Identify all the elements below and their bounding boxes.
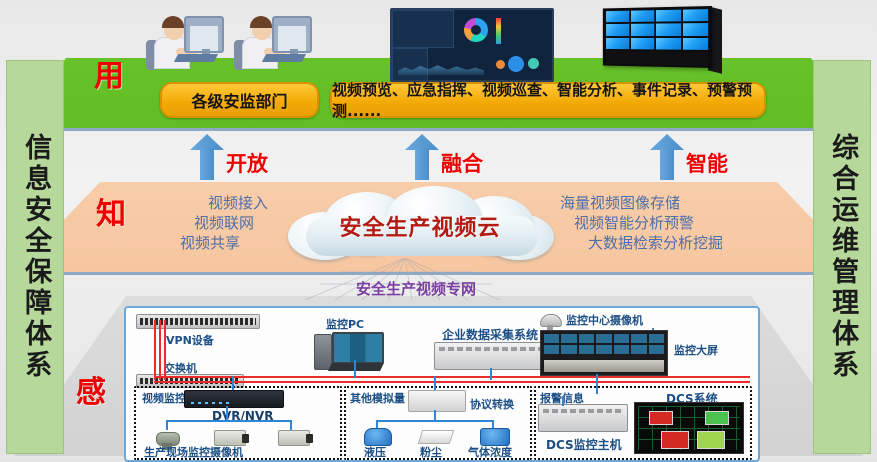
box-dept-label: 各级安监部门 xyxy=(191,88,287,112)
pillar-left-security: 信息安全保障体系 xyxy=(6,60,64,454)
label-big-screen: 监控大屏 xyxy=(674,342,718,358)
arrow-shaft-shape xyxy=(660,148,674,180)
video-wall-body xyxy=(603,6,712,68)
pillar-left-label: 信息安全保障体系 xyxy=(21,133,49,381)
dcs-host-icon xyxy=(538,404,628,432)
blue-link-line xyxy=(290,420,292,430)
bubble-shape xyxy=(528,58,539,69)
video-wall-base-shape xyxy=(606,51,708,66)
red-link-line xyxy=(159,320,161,380)
server-slots-shape xyxy=(439,347,547,351)
pc-tower-icon xyxy=(314,334,332,370)
arrow-up-fusion-icon xyxy=(405,134,439,180)
arrow-up-open-icon xyxy=(190,134,224,180)
blue-link-line xyxy=(434,410,436,422)
operator-workstation-icon xyxy=(146,12,224,72)
know-left-item: 视频联网 xyxy=(128,214,268,234)
blue-link-line xyxy=(232,376,234,390)
dust-sensor-icon xyxy=(418,430,455,444)
label-vpn-device: VPN设备 xyxy=(166,332,214,348)
control-room-screen-grid xyxy=(544,334,664,354)
layer-label-sense: 感 xyxy=(76,378,106,408)
protocol-converter-icon xyxy=(408,390,466,412)
analytics-dashboard-illustration xyxy=(390,8,554,82)
blue-link-line xyxy=(354,360,356,378)
arrow-shaft-shape xyxy=(200,148,214,180)
know-right-item: 视频智能分析预警 xyxy=(560,214,750,234)
label-video-monitoring: 视频监控 xyxy=(142,390,186,406)
video-wall-illustration xyxy=(588,6,728,76)
box-application-functions[interactable]: 视频预览、应急指挥、视频巡查、智能分析、事件记录、预警预测...... xyxy=(330,82,766,118)
know-left-capabilities: 视频接入 视频联网 视频共享 xyxy=(128,194,268,253)
blue-link-line xyxy=(490,368,492,380)
know-left-item: 视频共享 xyxy=(128,234,268,254)
dcs-scada-photo xyxy=(634,402,744,454)
dashboard-gauge-panel xyxy=(392,48,428,82)
blue-link-line xyxy=(166,420,292,422)
blue-link-line xyxy=(434,376,436,390)
diagram-canvas: 信息安全保障体系 综合运维管理体系 用 知 感 xyxy=(0,0,877,461)
pc-screen-icon xyxy=(332,332,384,364)
box-safety-supervision-departments[interactable]: 各级安监部门 xyxy=(160,82,319,118)
control-room-desk-shape xyxy=(544,360,664,372)
private-network-label: 安全生产视频专网 xyxy=(356,278,476,299)
operators-illustration xyxy=(146,8,316,72)
label-dcs-host: DCS监控主机 xyxy=(546,436,622,453)
box-apps-label: 视频预览、应急指挥、视频巡查、智能分析、事件记录、预警预测...... xyxy=(332,79,764,121)
dcs-unit-shape xyxy=(649,411,673,425)
know-right-capabilities: 海量视频图像存储 视频智能分析预警 大数据检索分析挖掘 xyxy=(560,194,750,253)
blue-link-line xyxy=(226,406,228,422)
label-sensor-gas: 气体浓度 xyxy=(468,444,512,460)
arrow-label-open: 开放 xyxy=(226,148,268,178)
label-monitor-pc: 监控PC xyxy=(326,316,364,332)
camera-lens-shape xyxy=(306,434,313,443)
red-link-line xyxy=(154,320,156,380)
monitor-icon xyxy=(272,16,312,53)
pillar-right-operations: 综合运维管理体系 xyxy=(813,60,871,454)
pillar-right-label: 综合运维管理体系 xyxy=(828,133,856,381)
dcs-unit-shape xyxy=(705,411,729,425)
red-bus-line xyxy=(154,381,750,383)
nvr-led-shape xyxy=(191,402,231,404)
label-data-collection-system: 企业数据采集系统 xyxy=(442,326,538,343)
box-camera-icon xyxy=(278,430,310,446)
blue-link-line xyxy=(562,396,564,406)
label-sensor-hydraulic: 液压 xyxy=(364,444,386,460)
bubble-shape xyxy=(496,60,505,69)
label-protocol-conversion: 协议转换 xyxy=(470,396,514,412)
arrow-label-smart: 智能 xyxy=(686,148,728,178)
person-hair-shape xyxy=(250,16,272,28)
person-hair-shape xyxy=(162,16,184,28)
server-slots-shape xyxy=(543,409,623,413)
bubble-shape xyxy=(508,56,524,72)
operator-workstation-icon xyxy=(234,12,312,72)
label-site-cameras: 生产现场监控摄像机 xyxy=(144,444,243,460)
red-bus-line xyxy=(154,376,750,378)
cloud-label-video-cloud: 安全生产视频云 xyxy=(300,210,540,242)
control-room-photo xyxy=(540,330,668,376)
monitor-icon xyxy=(184,16,224,53)
data-collection-server-icon xyxy=(434,342,552,370)
device-ports-shape xyxy=(140,318,256,325)
camera-lens-shape xyxy=(242,434,249,443)
label-other-analog: 其他模拟量 xyxy=(350,390,405,406)
color-scale-icon xyxy=(496,18,501,44)
sense-layer-panel: VPN设备 交换机 监控PC 企业数据采集系统 监控中心摄像机 xyxy=(124,306,760,462)
dcs-unit-shape xyxy=(697,431,725,449)
label-switch: 交换机 xyxy=(164,360,197,376)
know-right-item: 海量视频图像存储 xyxy=(560,194,750,214)
dcs-unit-shape xyxy=(661,431,689,449)
pc-keyboard-icon xyxy=(328,363,384,371)
red-link-line xyxy=(164,320,166,380)
layer-band-use-edge xyxy=(14,128,863,131)
dvr-nvr-icon xyxy=(184,390,284,408)
arrow-shaft-shape xyxy=(415,148,429,180)
donut-chart-icon xyxy=(464,18,488,42)
monitor-screen-shape xyxy=(190,26,218,51)
know-left-item: 视频接入 xyxy=(128,194,268,214)
dashboard-table-panel xyxy=(392,10,454,48)
layer-label-use: 用 xyxy=(94,62,124,92)
keyboard-icon xyxy=(174,54,218,62)
keyboard-icon xyxy=(262,54,306,62)
monitor-screen-shape xyxy=(278,26,306,51)
video-wall-screen-grid xyxy=(606,9,708,50)
layer-label-know: 知 xyxy=(96,200,126,230)
label-center-camera: 监控中心摄像机 xyxy=(566,312,643,328)
arrow-up-smart-icon xyxy=(650,134,684,180)
arrow-label-fusion: 融合 xyxy=(441,148,483,178)
label-sensor-dust: 粉尘 xyxy=(420,444,442,460)
know-right-item: 大数据检索分析挖掘 xyxy=(560,234,750,254)
